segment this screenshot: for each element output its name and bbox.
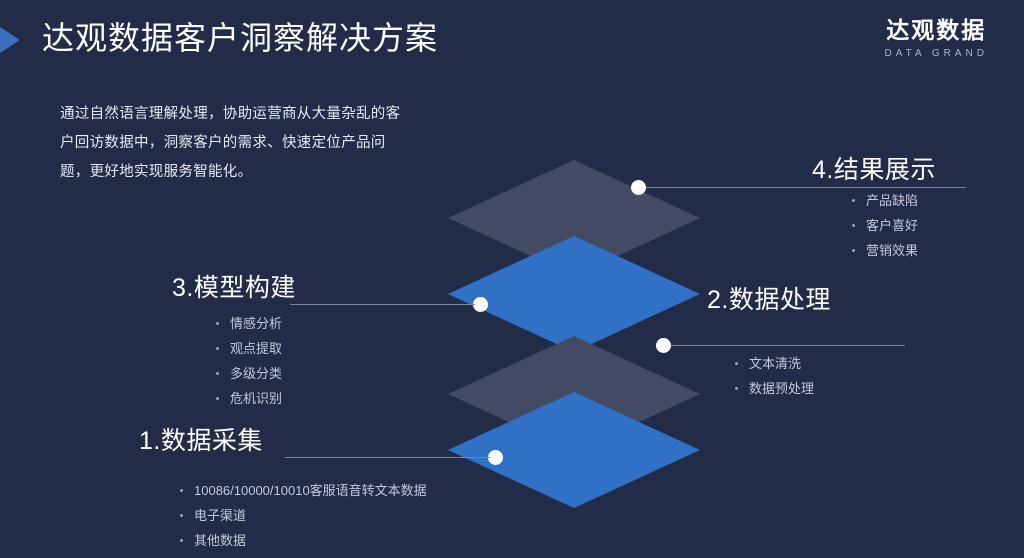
step-4-heading: 4.结果展示: [812, 154, 936, 186]
connector-dot-step-1: [488, 450, 503, 465]
intro-paragraph: 通过自然语言理解处理，协助运营商从大量杂乱的客户回访数据中，洞察客户的需求、快速…: [60, 100, 412, 187]
list-item: 情感分析: [216, 311, 282, 336]
title-arrow-icon: [0, 18, 20, 62]
list-item: 多级分类: [216, 361, 282, 386]
step-4-bullets: 产品缺陷 客户喜好 营销效果: [852, 188, 918, 263]
list-item: 客户喜好: [852, 213, 918, 238]
list-item: 产品缺陷: [852, 188, 918, 213]
step-2-heading: 2.数据处理: [707, 284, 831, 316]
layer-stack-graphic: [440, 150, 710, 500]
step-2-bullets: 文本清洗 数据预处理: [735, 351, 814, 401]
list-item: 电子渠道: [180, 503, 427, 528]
list-item: 观点提取: [216, 336, 282, 361]
logo-english-text: DATA GRAND: [884, 46, 988, 62]
list-item: 其他数据: [180, 528, 427, 553]
connector-dot-step-2: [656, 338, 671, 353]
connector-line-step-2: [671, 345, 905, 346]
step-3-bullets: 情感分析 观点提取 多级分类 危机识别: [216, 311, 282, 411]
brand-logo: 达观数据 DATA GRAND: [884, 17, 988, 62]
layer-diamond-3: [448, 236, 700, 352]
step-1-heading: 1.数据采集: [139, 425, 263, 457]
logo-chinese-text: 达观数据: [884, 17, 988, 44]
connector-dot-step-4: [631, 180, 646, 195]
step-3-heading: 3.模型构建: [172, 272, 296, 304]
list-item: 10086/10000/10010客服语音转文本数据: [180, 478, 427, 503]
list-item: 营销效果: [852, 238, 918, 263]
list-item: 危机识别: [216, 386, 282, 411]
step-1-bullets: 10086/10000/10010客服语音转文本数据 电子渠道 其他数据: [180, 478, 427, 553]
slide-canvas: 达观数据客户洞察解决方案 达观数据 DATA GRAND 通过自然语言理解处理，…: [0, 0, 1024, 558]
list-item: 数据预处理: [735, 376, 814, 401]
connector-line-step-1: [285, 457, 490, 458]
list-item: 文本清洗: [735, 351, 814, 376]
connector-dot-step-3: [473, 297, 488, 312]
page-title: 达观数据客户洞察解决方案: [42, 17, 438, 59]
connector-line-step-3: [290, 304, 475, 305]
